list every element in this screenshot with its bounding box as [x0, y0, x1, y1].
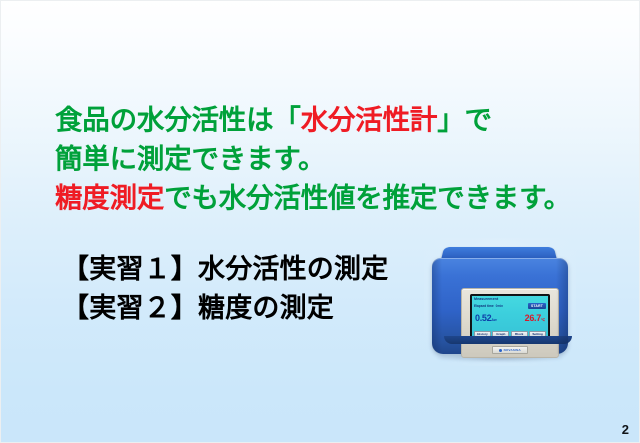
device-screen-bezel: Measurement Elapsed time 0min START 0.52… [470, 294, 550, 342]
headline-line1-part3: 」で [437, 104, 492, 135]
headline-text-block: 食品の水分活性は「水分活性計」で 簡単に測定できます。 糖度測定でも水分活性値を… [55, 100, 635, 217]
device-body: Measurement Elapsed time 0min START 0.52… [432, 258, 568, 354]
screen-temp-unit: ℃ [541, 318, 545, 322]
device-lcd-screen[interactable]: Measurement Elapsed time 0min START 0.52… [472, 296, 548, 340]
screen-aw-readout: 0.52Aw [475, 313, 497, 323]
slide-canvas: 食品の水分活性は「水分活性計」で 簡単に測定できます。 糖度測定でも水分活性値を… [0, 0, 640, 443]
screen-aw-value: 0.52 [475, 313, 491, 323]
screen-temperature-readout: 26.7℃ [525, 313, 545, 323]
screen-start-badge[interactable]: START [528, 303, 546, 309]
headline-line1-part1: 食品の水分活性は「 [55, 104, 301, 135]
page-number: 2 [622, 422, 629, 437]
practicum-list: 【実習１】水分活性の測定 【実習２】糖度の測定 [62, 250, 388, 328]
device-front-panel: Measurement Elapsed time 0min START 0.52… [461, 288, 559, 358]
screen-aw-unit: Aw [491, 318, 496, 322]
headline-line3-emphasis: 糖度測定 [55, 182, 164, 213]
device-logo-text: NOVASINA [504, 348, 521, 352]
practicum-item-2: 【実習２】糖度の測定 [62, 289, 388, 328]
headline-line3-part2: でも水分活性値を推定できます。 [164, 182, 571, 213]
screen-readouts: 0.52Aw 26.7℃ [475, 313, 545, 323]
screen-elapsed-label: Elapsed time [474, 304, 494, 308]
brand-mark-icon [499, 349, 502, 352]
practicum-item-1: 【実習１】水分活性の測定 [62, 250, 388, 289]
device-brand-logo: NOVASINA [492, 346, 528, 354]
screen-elapsed-value: 0min [496, 304, 503, 308]
headline-line1-emphasis: 水分活性計 [301, 104, 438, 135]
headline-line-1: 食品の水分活性は「水分活性計」で [55, 100, 635, 139]
screen-title: Measurement [474, 297, 498, 301]
screen-temp-value: 26.7 [525, 313, 541, 323]
screen-elapsed-row: Elapsed time 0min [474, 304, 503, 308]
headline-line-3: 糖度測定でも水分活性値を推定できます。 [55, 178, 635, 217]
water-activity-meter-image: Measurement Elapsed time 0min START 0.52… [424, 238, 576, 366]
headline-line2-text: 簡単に測定できます。 [55, 143, 325, 174]
headline-line-2: 簡単に測定できます。 [55, 139, 635, 178]
device-base [444, 336, 572, 344]
